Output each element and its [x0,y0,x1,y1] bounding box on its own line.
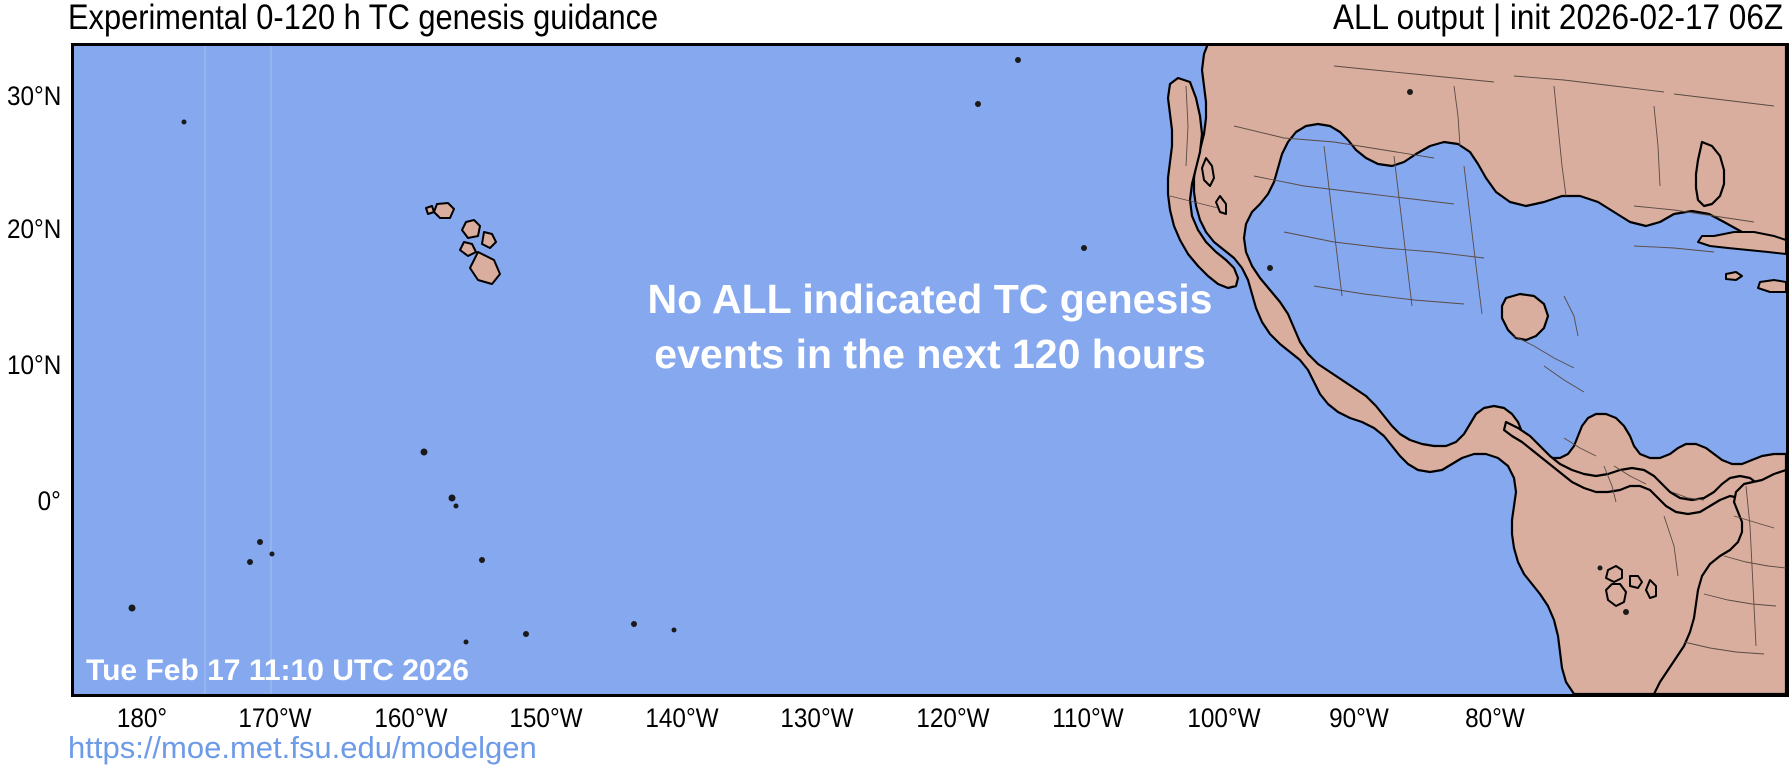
x-tick-100W: 100°W [1187,703,1260,734]
valid-timestamp: Tue Feb 17 11:10 UTC 2026 [86,654,469,688]
x-tick-130W: 130°W [780,703,853,734]
figure-title-right: ALL output | init 2026-02-17 06Z [1333,0,1783,38]
x-tick-110W: 110°W [1052,703,1123,734]
y-tick-30N: 30°N [7,81,61,112]
source-url[interactable]: https://moe.met.fsu.edu/modelgen [68,730,537,766]
y-tick-10N: 10°N [7,350,61,381]
x-tick-120W: 120°W [916,703,989,734]
figure-title-left: Experimental 0-120 h TC genesis guidance [68,0,658,38]
x-tick-140W: 140°W [645,703,718,734]
x-tick-90W: 90°W [1329,703,1389,734]
tc-genesis-guidance-figure: Experimental 0-120 h TC genesis guidance… [0,0,1789,768]
x-tick-80W: 80°W [1465,703,1525,734]
y-tick-20N: 20°N [7,214,61,245]
map-panel[interactable]: .land { fill:#d9ae9e; stroke:#000000; st… [71,43,1789,697]
map-svg: .land { fill:#d9ae9e; stroke:#000000; st… [74,46,1786,694]
y-tick-0: 0° [38,486,61,517]
